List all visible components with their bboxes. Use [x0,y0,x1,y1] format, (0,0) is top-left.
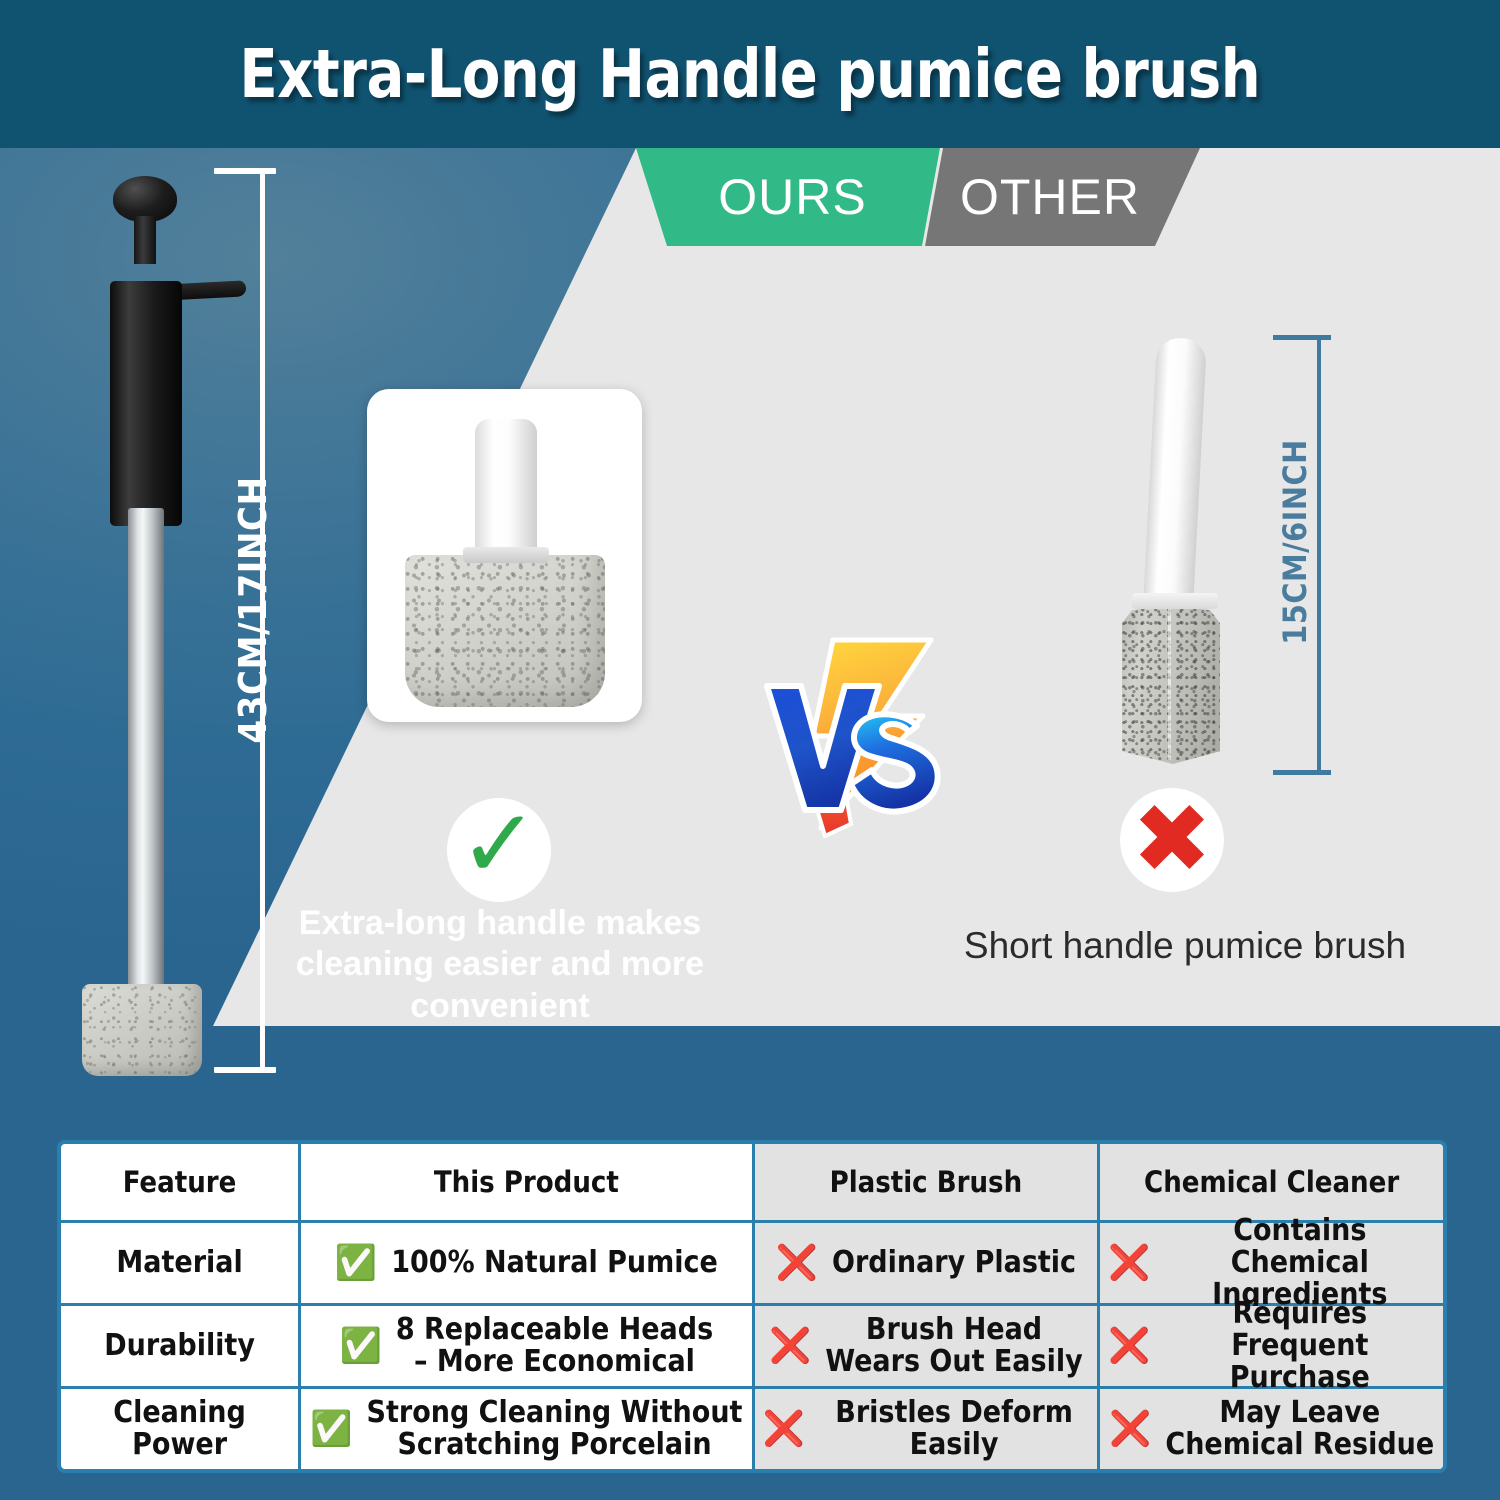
cell-chemical-cleaner: ❌ Requires Frequent Purchase [1097,1306,1443,1386]
cross-mark-icon: ❌ [1108,1329,1150,1363]
cross-mark-icon: ❌ [763,1412,805,1446]
page-title: Extra-Long Handle pumice brush [240,35,1261,113]
short-brush-stone-edge [1168,606,1171,760]
long-handle-brush-illustration [70,168,220,1088]
column-header-plastic-brush: Plastic Brush [752,1144,1098,1220]
check-mark-icon: ✅ [339,1329,381,1363]
short-brush-handle [1143,337,1207,609]
brush-steel-shaft [128,508,164,998]
brush-knob-neck [134,216,156,264]
cross-mark-icon: ❌ [1108,1246,1150,1280]
column-header-this-product: This Product [298,1144,751,1220]
cross-mark-icon: ✖ [1120,788,1224,892]
cell-this-product: ✅ 8 Replaceable Heads – More Economical [298,1306,751,1386]
cell-this-product: ✅ 100% Natural Pumice [298,1223,751,1303]
check-mark-icon: ✅ [335,1246,377,1280]
check-glyph: ✓ [459,797,539,893]
header-banner: Extra-Long Handle pumice brush [0,0,1500,148]
cell-this-product: ✅ Strong Cleaning Without Scratching Por… [298,1389,751,1469]
check-mark-icon: ✓ [447,798,551,902]
dimension-cap-top [214,168,276,174]
card-collar-ring [463,547,549,563]
cell-plastic-brush: ❌ Brush Head Wears Out Easily [752,1306,1098,1386]
cell-plastic-brush: ❌ Ordinary Plastic [752,1223,1098,1303]
dimension-cap-bottom [214,1067,276,1073]
other-caption: Short handle pumice brush [920,923,1450,968]
cell-chemical-cleaner: ❌ May Leave Chemical Residue [1097,1389,1443,1469]
right-dimension-line: 15CM/6INCH [1265,335,1327,775]
column-header-chemical-cleaner: Chemical Cleaner [1097,1144,1443,1220]
row-feature-label: Cleaning Power [61,1389,298,1469]
short-brush-collar [1132,593,1218,609]
brush-grip [110,281,182,526]
short-handle-brush-illustration [1100,338,1240,768]
table-row: Cleaning Power ✅ Strong Cleaning Without… [61,1386,1443,1469]
cell-chemical-cleaner: ❌ Contains Chemical Ingredients [1097,1223,1443,1303]
right-dimension-label: 15CM/6INCH [1276,417,1314,667]
card-white-connector [475,419,537,554]
cross-mark-icon: ❌ [776,1246,818,1280]
table-header-row: Feature This Product Plastic Brush Chemi… [61,1144,1443,1220]
check-mark-icon: ✅ [310,1412,352,1446]
left-dimension-label: 43CM/17INCH [231,450,275,770]
cross-glyph: ✖ [1132,792,1212,888]
other-banner-label: OTHER [930,148,1170,246]
table-row: Material ✅ 100% Natural Pumice ❌ Ordinar… [61,1220,1443,1303]
brush-pumice-head [82,984,202,1076]
short-brush-pumice-block [1122,604,1220,764]
ours-caption: Extra-long handle makes cleaning easier … [280,903,720,1027]
comparison-table: Feature This Product Plastic Brush Chemi… [57,1140,1447,1473]
cross-mark-icon: ❌ [1109,1412,1151,1446]
column-header-feature: Feature [61,1144,298,1220]
row-feature-label: Durability [61,1306,298,1386]
table-row: Durability ✅ 8 Replaceable Heads – More … [61,1303,1443,1386]
vs-logo [755,618,955,838]
left-dimension-line: 43CM/17INCH [210,168,272,1073]
dimension-cap-top [1273,335,1331,340]
cell-plastic-brush: ❌ Bristles Deform Easily [752,1389,1098,1469]
row-feature-label: Material [61,1223,298,1303]
cross-mark-icon: ❌ [769,1329,811,1363]
ours-banner-label: OURS [660,148,925,246]
dimension-bar [1317,335,1321,775]
ours-product-card [367,389,642,722]
card-pumice-head [405,555,605,707]
dimension-cap-bottom [1273,770,1331,775]
